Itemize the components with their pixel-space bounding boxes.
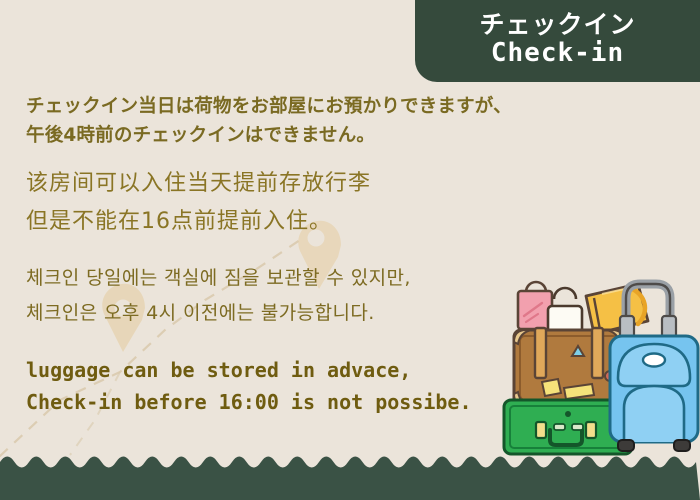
notice-japanese-line-2: 午後4時前のチェックインはできません。 <box>26 121 512 150</box>
notice-korean-line-2: 체크인은 오후 4시 이전에는 불가능합니다. <box>26 296 411 331</box>
notice-content: チェックイン当日は荷物をお部屋にお預かりできますが、 午後4時前のチェックインは… <box>0 0 700 500</box>
notice-japanese: チェックイン当日は荷物をお部屋にお預かりできますが、 午後4時前のチェックインは… <box>26 92 512 150</box>
notice-chinese: 该房间可以入住当天提前存放行李 但是不能在16点前提前入住。 <box>26 165 371 241</box>
notice-japanese-line-1: チェックイン当日は荷物をお部屋にお預かりできますが、 <box>26 92 512 121</box>
notice-chinese-line-2: 但是不能在16点前提前入住。 <box>26 203 371 241</box>
notice-english: luggage can be stored in advace, Check-i… <box>26 354 472 418</box>
checkin-notice-poster: チェックイン Check-in チェックイン当日は荷物をお部屋にお預かりできます… <box>0 0 700 500</box>
notice-english-line-1: luggage can be stored in advace, <box>26 354 472 386</box>
notice-english-line-2: Check-in before 16:00 is not possibe. <box>26 386 472 418</box>
notice-chinese-line-1: 该房间可以入住当天提前存放行李 <box>26 165 371 203</box>
notice-korean: 체크인 당일에는 객실에 짐을 보관할 수 있지만, 체크인은 오후 4시 이전… <box>26 261 411 331</box>
scalloped-footer <box>0 450 700 500</box>
notice-korean-line-1: 체크인 당일에는 객실에 짐을 보관할 수 있지만, <box>26 261 411 296</box>
